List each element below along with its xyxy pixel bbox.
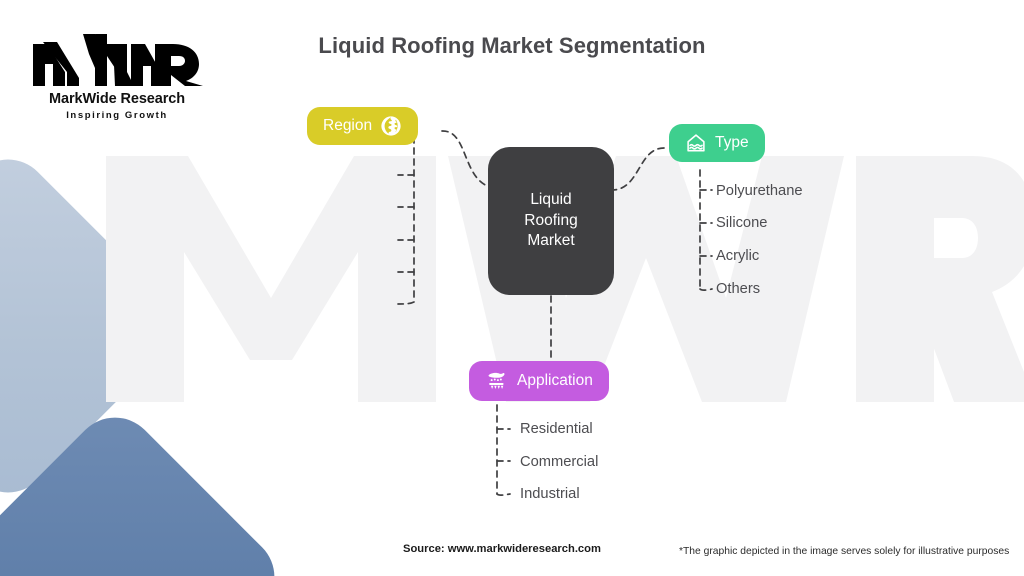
list-item[interactable]: Residential [520,422,593,437]
center-node-label: Liquid Roofing Market [524,190,577,251]
branch-badge-type[interactable]: Type [669,124,765,162]
page-title: Liquid Roofing Market Segmentation [0,33,1024,59]
branch-label-region: Region [323,117,372,135]
source-note: Source: www.markwideresearch.com [403,543,601,555]
globe-icon [380,115,402,137]
branch-badge-region[interactable]: Region [307,107,418,145]
house-waves-icon [685,132,707,154]
paint-sprayer-icon [485,369,509,393]
branch-label-application: Application [517,372,593,390]
logo-tagline: Inspiring Growth [27,110,207,121]
disclaimer-note: *The graphic depicted in the image serve… [679,546,1009,557]
list-item[interactable]: Commercial [520,455,598,470]
list-item[interactable]: Industrial [520,487,580,502]
list-item[interactable]: Polyurethane [716,184,803,199]
branch-badge-application[interactable]: Application [469,361,609,401]
center-node[interactable]: Liquid Roofing Market [488,147,614,295]
list-item[interactable]: Silicone [716,216,767,231]
branch-label-type: Type [715,134,749,152]
list-item[interactable]: Acrylic [716,249,759,264]
logo-company-name: MarkWide Research [27,91,207,107]
list-item[interactable]: Others [716,282,760,297]
